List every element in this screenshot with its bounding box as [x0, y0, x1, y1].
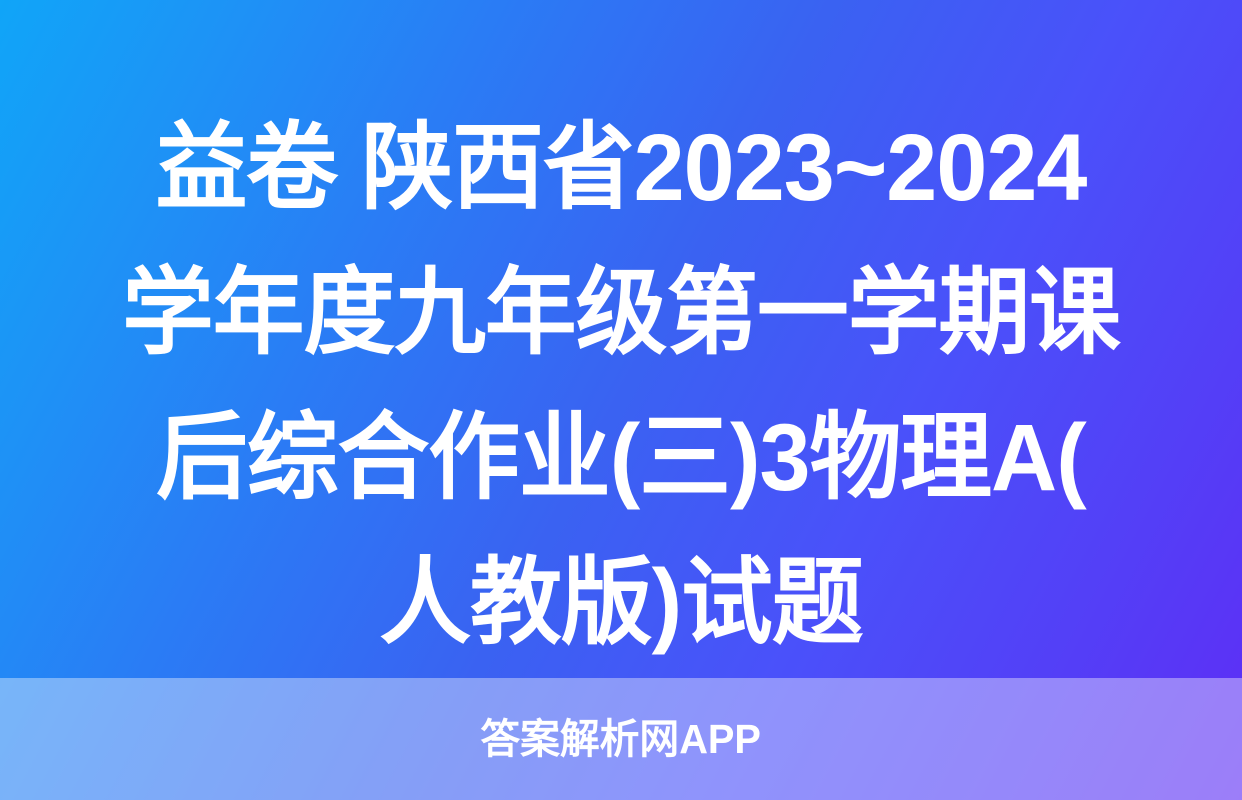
page-title: 益卷 陕西省2023~2024 学年度九年级第一学期课 后综合作业(三)3物理A… [0, 96, 1242, 676]
title-line-1: 益卷 陕西省2023~2024 [93, 96, 1149, 241]
watermark-banner: 答案解析网APP [0, 678, 1242, 800]
title-card: 益卷 陕西省2023~2024 学年度九年级第一学期课 后综合作业(三)3物理A… [0, 0, 1242, 800]
title-line-4: 人教版)试题 [93, 531, 1149, 676]
watermark-label: 答案解析网APP [481, 719, 762, 760]
title-line-2: 学年度九年级第一学期课 [93, 241, 1149, 386]
title-line-3: 后综合作业(三)3物理A( [93, 386, 1149, 531]
